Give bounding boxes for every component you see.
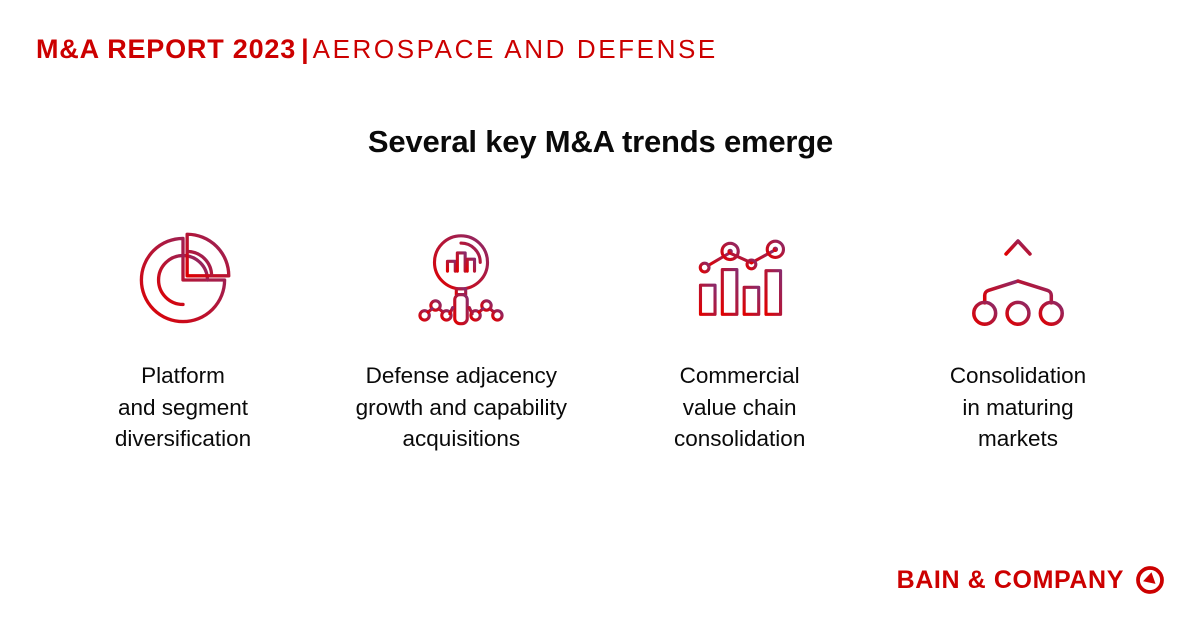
trend-label: Platform and segment diversification xyxy=(115,360,251,455)
consolidation-arrow-tree-icon xyxy=(966,228,1070,332)
pie-chart-segment-icon xyxy=(131,228,235,332)
eyebrow-separator: | xyxy=(296,34,313,64)
page-title: Several key M&A trends emerge xyxy=(0,124,1201,160)
magnifying-glass-bar-chart-network-icon xyxy=(409,228,513,332)
trend-label: Defense adjacency growth and capability … xyxy=(356,360,567,455)
bar-chart-trend-line-icon xyxy=(688,228,792,332)
report-title: M&A REPORT 2023 xyxy=(36,34,296,64)
bain-brand-logo: BAIN & COMPANY xyxy=(897,565,1165,595)
trends-row: Platform and segment diversification xyxy=(48,228,1153,455)
trend-label: Commercial value chain consolidation xyxy=(674,360,805,455)
brand-name: BAIN & COMPANY xyxy=(897,568,1124,593)
trend-item: Commercial value chain consolidation xyxy=(605,228,875,455)
bain-circle-triangle-logo xyxy=(1135,565,1165,595)
trend-item: Defense adjacency growth and capability … xyxy=(326,228,596,455)
trend-item: Platform and segment diversification xyxy=(48,228,318,455)
report-subject: AEROSPACE AND DEFENSE xyxy=(313,34,718,64)
trend-label: Consolidation in maturing markets xyxy=(950,360,1086,455)
trend-item: Consolidation in maturing markets xyxy=(883,228,1153,455)
report-eyebrow: M&A REPORT 2023|AEROSPACE AND DEFENSE xyxy=(36,36,718,63)
